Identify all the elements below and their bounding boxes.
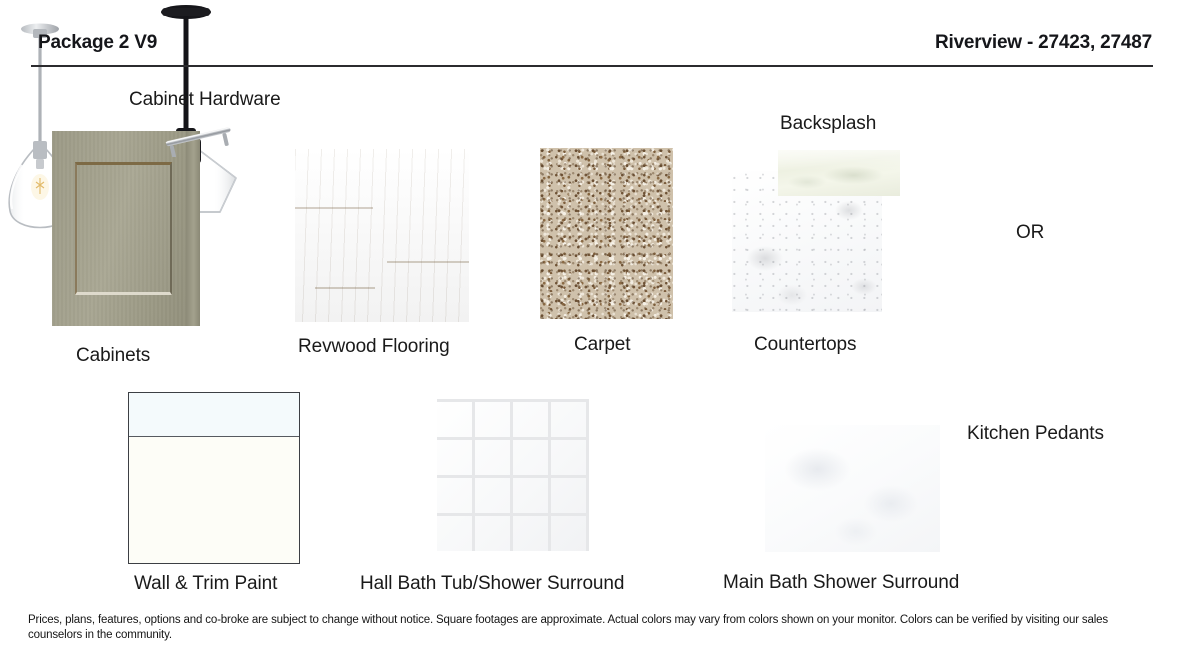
disclaimer-text: Prices, plans, features, options and co-…	[28, 613, 1148, 643]
paint-accent-band	[129, 393, 299, 437]
cabinet-door-edge	[186, 131, 200, 326]
label-wall-trim-paint: Wall & Trim Paint	[134, 573, 277, 595]
label-cabinets: Cabinets	[76, 345, 150, 367]
solid-panel-icon	[765, 425, 940, 552]
community-title: Riverview - 27423, 27487	[935, 32, 1152, 54]
plank-seam	[295, 207, 373, 209]
pendant-separator-or: OR	[1016, 222, 1044, 244]
label-kitchen-pendants: Kitchen Pedants	[967, 423, 1104, 445]
label-cabinet-hardware: Cabinet Hardware	[129, 89, 281, 111]
wood-plank-icon	[295, 149, 469, 322]
bar-pull-icon	[163, 123, 235, 157]
paint-swatch-icon	[128, 392, 300, 564]
label-revwood-flooring: Revwood Flooring	[298, 336, 450, 358]
plank-seam	[315, 287, 375, 289]
header-divider	[31, 65, 1153, 67]
label-hall-bath-surround: Hall Bath Tub/Shower Surround	[360, 573, 624, 595]
label-backsplash: Backsplash	[780, 113, 876, 135]
cabinet-door-panel	[75, 162, 172, 295]
square-tile-grid-icon	[437, 399, 589, 551]
page-title: Package 2 V9	[38, 32, 157, 54]
label-countertops: Countertops	[754, 334, 856, 356]
tile-icon	[778, 150, 900, 196]
label-carpet: Carpet	[574, 334, 630, 356]
carpet-texture-icon	[540, 148, 673, 319]
cabinet-door-icon	[52, 131, 200, 326]
label-main-bath-surround: Main Bath Shower Surround	[723, 572, 959, 594]
plank-seam	[387, 261, 469, 263]
page-header: Package 2 V9 Riverview - 27423, 27487	[0, 0, 1182, 66]
